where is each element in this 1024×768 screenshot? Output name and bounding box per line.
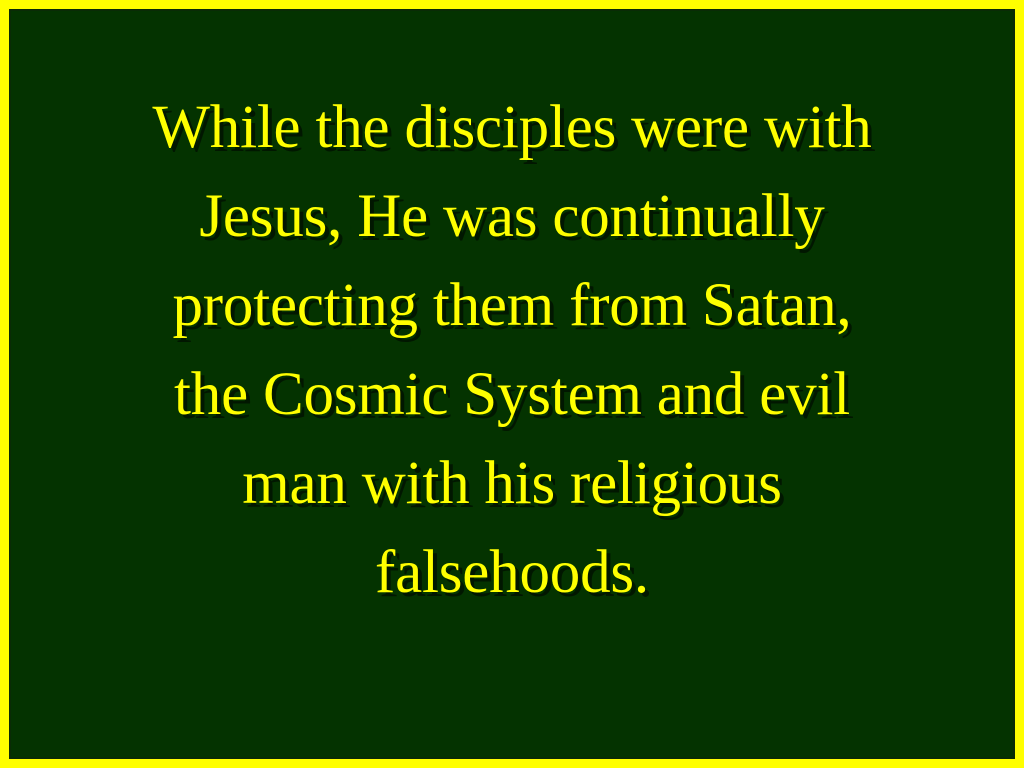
slide-body-text: While the disciples were with Jesus, He …	[9, 83, 1015, 617]
slide-body-line: the Cosmic System and evil	[37, 350, 987, 439]
presentation-slide: While the disciples were with Jesus, He …	[0, 0, 1024, 768]
slide-body-line: falsehoods.	[37, 528, 987, 617]
slide-body-line: protecting them from Satan,	[37, 261, 987, 350]
slide-body-line: While the disciples were with	[37, 83, 987, 172]
slide-body-line: Jesus, He was continually	[37, 172, 987, 261]
slide-body-line: man with his religious	[37, 439, 987, 528]
